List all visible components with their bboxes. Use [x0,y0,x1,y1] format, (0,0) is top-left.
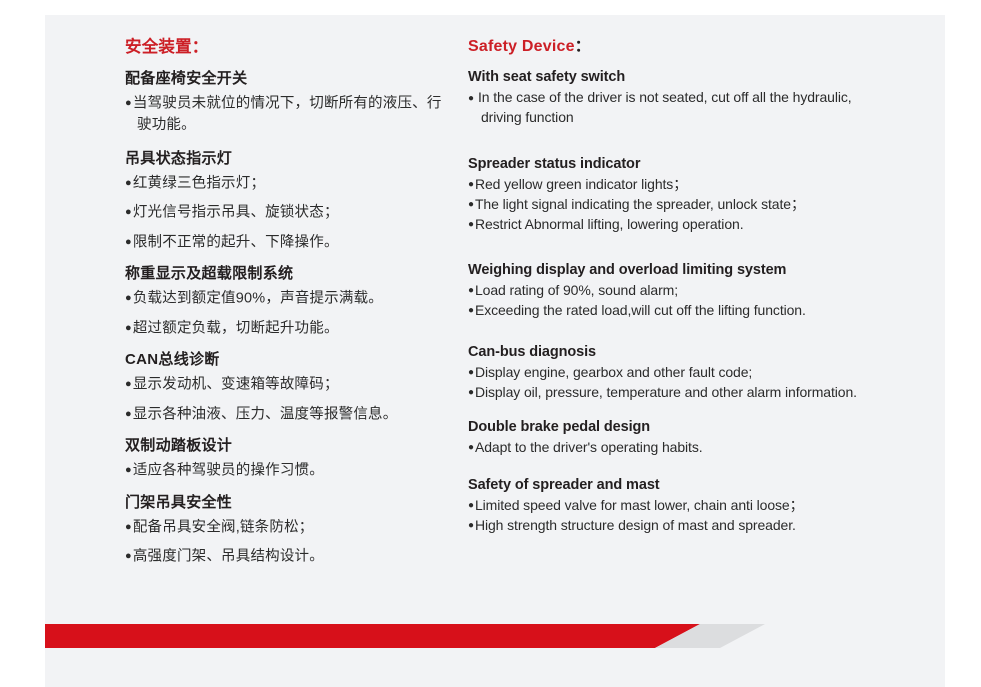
list-item: ●高强度门架、吊具结构设计。 [125,546,455,568]
list-item-text: Exceeding the rated load,will cut off th… [475,302,806,318]
spec-bullet-list: ●适应各种驾驶员的操作习惯。 [125,460,455,482]
list-item: ●Limited speed valve for mast lower, cha… [468,496,888,516]
list-item: ●配备吊具安全阀,链条防松； [125,517,455,539]
list-item-text: The light signal indicating the spreader… [475,196,805,212]
spec-group-heading: 双制动踏板设计 [125,435,455,456]
bullet-dot-icon: ● [125,177,132,189]
list-item: ●当驾驶员未就位的情况下，切断所有的液压、行驶功能。 [125,93,455,136]
list-item-text: Restrict Abnormal lifting, lowering oper… [475,216,744,232]
section-heading-english: Safety Device： [468,37,888,57]
list-item: ●红黄绿三色指示灯； [125,173,455,195]
spec-bullet-list: ●In the case of the driver is not seated… [468,88,888,127]
list-item-text: Limited speed valve for mast lower, chai… [475,497,804,513]
section-heading-chinese: 安全装置： [125,37,455,57]
spec-group-heading: 称重显示及超载限制系统 [125,263,455,284]
spec-bullet-list: ●Limited speed valve for mast lower, cha… [468,496,888,536]
content-panel: 安全装置： 配备座椅安全开关 ●当驾驶员未就位的情况下，切断所有的液压、行驶功能… [45,15,945,687]
bullet-dot-icon: ● [468,179,474,190]
spec-bullet-list: ●配备吊具安全阀,链条防松； ●高强度门架、吊具结构设计。 [125,517,455,568]
list-item-text: 负载达到额定值90%，声音提示满载。 [133,291,383,307]
list-item-text: 限制不正常的起升、下降操作。 [133,234,339,250]
list-item-text: 高强度门架、吊具结构设计。 [133,549,324,565]
list-item: ●Load rating of 90%, sound alarm; [468,281,888,301]
list-item-text: Red yellow green indicator lights； [475,176,687,192]
spec-group-mast-spreader-safety-en: Safety of spreader and mast ●Limited spe… [468,476,888,536]
list-item: ●负载达到额定值90%，声音提示满载。 [125,288,455,310]
spec-group-can-bus-en: Can-bus diagnosis ●Display engine, gearb… [468,343,888,403]
bullet-dot-icon: ● [125,236,132,248]
bullet-dot-icon: ● [468,219,474,230]
list-item-text: Display oil, pressure, temperature and o… [475,384,857,400]
bullet-dot-icon: ● [468,442,474,453]
list-item: ●Adapt to the driver's operating habits. [468,438,888,458]
spec-bullet-list: ●当驾驶员未就位的情况下，切断所有的液压、行驶功能。 [125,93,455,136]
spec-group-heading: Can-bus diagnosis [468,343,888,362]
list-item: ●限制不正常的起升、下降操作。 [125,232,455,254]
spec-group-seat-safety-switch-zh: 配备座椅安全开关 ●当驾驶员未就位的情况下，切断所有的液压、行驶功能。 [125,68,455,136]
bullet-dot-icon: ● [125,408,132,420]
spec-group-heading: With seat safety switch [468,68,888,87]
list-item: ●High strength structure design of mast … [468,516,888,536]
list-item-text: 适应各种驾驶员的操作习惯。 [133,463,324,479]
spec-bullet-list: ●Adapt to the driver's operating habits. [468,438,888,458]
list-item: ●In the case of the driver is not seated… [468,88,888,127]
bullet-dot-icon: ● [468,93,474,104]
list-item-text: High strength structure design of mast a… [475,517,796,533]
spec-group-double-brake-pedal-zh: 双制动踏板设计 ●适应各种驾驶员的操作习惯。 [125,435,455,482]
list-item-text: 灯光信号指示吊具、旋锁状态； [133,205,339,221]
spec-group-double-brake-pedal-en: Double brake pedal design ●Adapt to the … [468,418,888,458]
list-item-text: 配备吊具安全阀,链条防松； [133,519,314,535]
bullet-dot-icon: ● [125,550,132,562]
spec-group-spreader-indicator-en: Spreader status indicator ●Red yellow gr… [468,155,888,235]
footer-banner [45,624,945,648]
list-item-text: 当驾驶员未就位的情况下，切断所有的液压、行驶功能。 [133,96,442,133]
bullet-dot-icon: ● [125,292,132,304]
list-item-text: 红黄绿三色指示灯； [133,175,265,191]
list-item-text: Load rating of 90%, sound alarm; [475,282,678,298]
bullet-dot-icon: ● [468,199,474,210]
list-item: ●The light signal indicating the spreade… [468,195,888,215]
spec-group-heading: 配备座椅安全开关 [125,68,455,89]
list-item-text: Display engine, gearbox and other fault … [475,364,752,380]
spec-group-can-bus-zh: CAN总线诊断 ●显示发动机、变速箱等故障码； ●显示各种油液、压力、温度等报警… [125,349,455,425]
list-item: ●Display oil, pressure, temperature and … [468,383,888,403]
bullet-dot-icon: ● [468,500,474,511]
spec-group-mast-spreader-safety-zh: 门架吊具安全性 ●配备吊具安全阀,链条防松； ●高强度门架、吊具结构设计。 [125,492,455,568]
list-item: ●超过额定负载，切断起升功能。 [125,318,455,340]
spec-group-heading: Safety of spreader and mast [468,476,888,495]
list-item-text: In the case of the driver is not seated,… [478,89,852,125]
footer-banner-red-bar [45,624,700,648]
two-column-spec-layout: 安全装置： 配备座椅安全开关 ●当驾驶员未就位的情况下，切断所有的液压、行驶功能… [45,15,945,605]
spec-group-heading: Weighing display and overload limiting s… [468,261,888,280]
list-item: ●Exceeding the rated load,will cut off t… [468,301,888,321]
spec-group-heading: Double brake pedal design [468,418,888,437]
section-heading-text: Safety Device [468,38,575,55]
section-heading-colon: ： [575,38,591,55]
spec-bullet-list: ●显示发动机、变速箱等故障码； ●显示各种油液、压力、温度等报警信息。 [125,374,455,425]
list-item: ●显示发动机、变速箱等故障码； [125,374,455,396]
spec-group-weighing-overload-zh: 称重显示及超载限制系统 ●负载达到额定值90%，声音提示满载。 ●超过额定负载，… [125,263,455,339]
spec-group-heading: CAN总线诊断 [125,349,455,370]
list-item: ●Red yellow green indicator lights； [468,175,888,195]
list-item: ●Restrict Abnormal lifting, lowering ope… [468,215,888,235]
bullet-dot-icon: ● [125,206,132,218]
list-item-text: Adapt to the driver's operating habits. [475,439,703,455]
bullet-dot-icon: ● [125,464,132,476]
english-spec-column: Safety Device： With seat safety switch ●… [468,37,888,538]
bullet-dot-icon: ● [125,378,132,390]
bullet-dot-icon: ● [468,285,474,296]
bullet-dot-icon: ● [125,97,132,109]
spec-bullet-list: ●负载达到额定值90%，声音提示满载。 ●超过额定负载，切断起升功能。 [125,288,455,339]
spec-group-heading: 吊具状态指示灯 [125,148,455,169]
list-item: ●灯光信号指示吊具、旋锁状态； [125,202,455,224]
spec-group-heading: Spreader status indicator [468,155,888,174]
spec-bullet-list: ●Red yellow green indicator lights； ●The… [468,175,888,235]
spec-group-heading: 门架吊具安全性 [125,492,455,513]
list-item: ●Display engine, gearbox and other fault… [468,363,888,383]
bullet-dot-icon: ● [468,387,474,398]
spec-group-spreader-indicator-zh: 吊具状态指示灯 ●红黄绿三色指示灯； ●灯光信号指示吊具、旋锁状态； ●限制不正… [125,148,455,254]
spec-bullet-list: ●Load rating of 90%, sound alarm; ●Excee… [468,281,888,321]
bullet-dot-icon: ● [125,521,132,533]
chinese-spec-column: 安全装置： 配备座椅安全开关 ●当驾驶员未就位的情况下，切断所有的液压、行驶功能… [125,37,455,570]
bullet-dot-icon: ● [468,305,474,316]
bullet-dot-icon: ● [468,367,474,378]
spec-bullet-list: ●红黄绿三色指示灯； ●灯光信号指示吊具、旋锁状态； ●限制不正常的起升、下降操… [125,173,455,254]
spec-group-weighing-overload-en: Weighing display and overload limiting s… [468,261,888,321]
spec-group-seat-safety-switch-en: With seat safety switch ●In the case of … [468,68,888,127]
list-item-text: 显示各种油液、压力、温度等报警信息。 [133,406,398,422]
spec-bullet-list: ●Display engine, gearbox and other fault… [468,363,888,403]
bullet-dot-icon: ● [468,520,474,531]
list-item: ●适应各种驾驶员的操作习惯。 [125,460,455,482]
list-item-text: 显示发动机、变速箱等故障码； [133,377,339,393]
list-item-text: 超过额定负载，切断起升功能。 [133,320,339,336]
bullet-dot-icon: ● [125,322,132,334]
list-item: ●显示各种油液、压力、温度等报警信息。 [125,404,455,426]
